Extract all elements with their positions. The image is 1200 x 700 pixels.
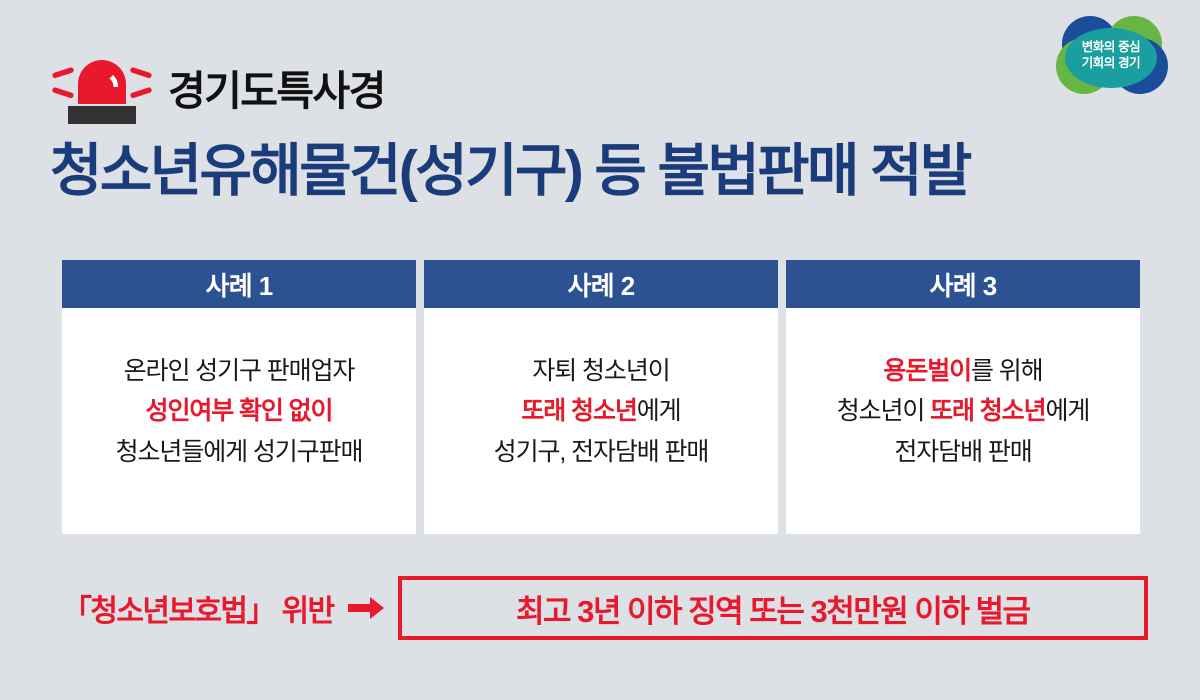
case-card-3-line-2: 청소년이 또래 청소년에게 (837, 394, 1090, 430)
case-card-1-title: 사례 1 (62, 260, 416, 308)
case-card-3-line-2-seg-1: 청소년이 (837, 397, 930, 425)
case-card-1-body: 온라인 성기구 판매업자 성인여부 확인 없이 청소년들에게 성기구판매 (62, 308, 416, 534)
case-card-2: 사례 2 자퇴 청소년이 또래 청소년에게 성기구, 전자담배 판매 (424, 260, 778, 534)
case-card-3-line-3-seg-1: 전자담배 판매 (894, 438, 1031, 466)
agency-name: 경기도특사경 (168, 71, 385, 112)
case-card-3-line-1-seg-2: 를 위해 (971, 357, 1043, 385)
case-card-3-title: 사례 3 (786, 260, 1140, 308)
case-card-2-line-2: 또래 청소년에게 (521, 394, 680, 430)
penalty-row: 「청소년보호법」 위반 최고 3년 이하 징역 또는 3천만원 이하 벌금 (62, 580, 1148, 636)
case-card-3-line-1-seg-1: 용돈벌이 (883, 357, 971, 385)
case-card-3: 사례 3 용돈벌이를 위해 청소년이 또래 청소년에게 전자담배 판매 (786, 260, 1140, 534)
case-card-1: 사례 1 온라인 성기구 판매업자 성인여부 확인 없이 청소년들에게 성기구판… (62, 260, 416, 534)
case-card-2-line-3: 성기구, 전자담배 판매 (494, 435, 709, 471)
case-card-3-line-2-seg-3: 에게 (1046, 397, 1090, 425)
case-card-3-line-3: 전자담배 판매 (894, 435, 1031, 471)
case-card-2-body: 자퇴 청소년이 또래 청소년에게 성기구, 전자담배 판매 (424, 308, 778, 534)
case-card-2-title: 사례 2 (424, 260, 778, 308)
case-card-1-line-1: 온라인 성기구 판매업자 (124, 354, 355, 390)
brand-logo-text: 변화의 중심 기회의 경기 (1082, 39, 1141, 71)
penalty-text: 최고 3년 이하 징역 또는 3천만원 이하 벌금 (516, 586, 1030, 631)
case-card-2-line-2-seg-2: 에게 (637, 397, 681, 425)
penalty-box: 최고 3년 이하 징역 또는 3천만원 이하 벌금 (398, 576, 1148, 640)
case-card-3-line-2-seg-2: 또래 청소년 (930, 397, 1045, 425)
case-card-3-line-1: 용돈벌이를 위해 (883, 354, 1042, 390)
page-title: 청소년유해물건(성기구) 등 불법판매 적발 (50, 141, 1170, 203)
header-row: 경기도특사경 (50, 48, 385, 128)
case-card-1-line-2-seg-1: 성인여부 확인 없이 (146, 397, 333, 425)
gyeonggi-brand-logo: 변화의 중심 기회의 경기 (1044, 14, 1178, 96)
case-card-2-line-1-seg-1: 자퇴 청소년이 (532, 357, 669, 385)
arrow-right-icon (348, 596, 384, 620)
violation-label: 「청소년보호법」 위반 (62, 586, 334, 630)
case-card-1-line-1-seg-1: 온라인 성기구 판매업자 (124, 357, 355, 385)
brand-logo-line1: 변화의 중심 (1082, 39, 1141, 55)
case-card-1-line-3: 청소년들에게 성기구판매 (116, 435, 363, 471)
case-card-1-line-3-seg-1: 청소년들에게 성기구판매 (116, 438, 363, 466)
siren-icon (50, 48, 154, 128)
case-card-1-line-2: 성인여부 확인 없이 (146, 394, 333, 430)
case-card-list: 사례 1 온라인 성기구 판매업자 성인여부 확인 없이 청소년들에게 성기구판… (62, 260, 1140, 534)
case-card-3-body: 용돈벌이를 위해 청소년이 또래 청소년에게 전자담배 판매 (786, 308, 1140, 534)
case-card-2-line-1: 자퇴 청소년이 (532, 354, 669, 390)
case-card-2-line-3-seg-1: 성기구, 전자담배 판매 (494, 438, 709, 466)
brand-logo-line2: 기회의 경기 (1082, 55, 1141, 71)
case-card-2-line-2-seg-1: 또래 청소년 (521, 397, 636, 425)
